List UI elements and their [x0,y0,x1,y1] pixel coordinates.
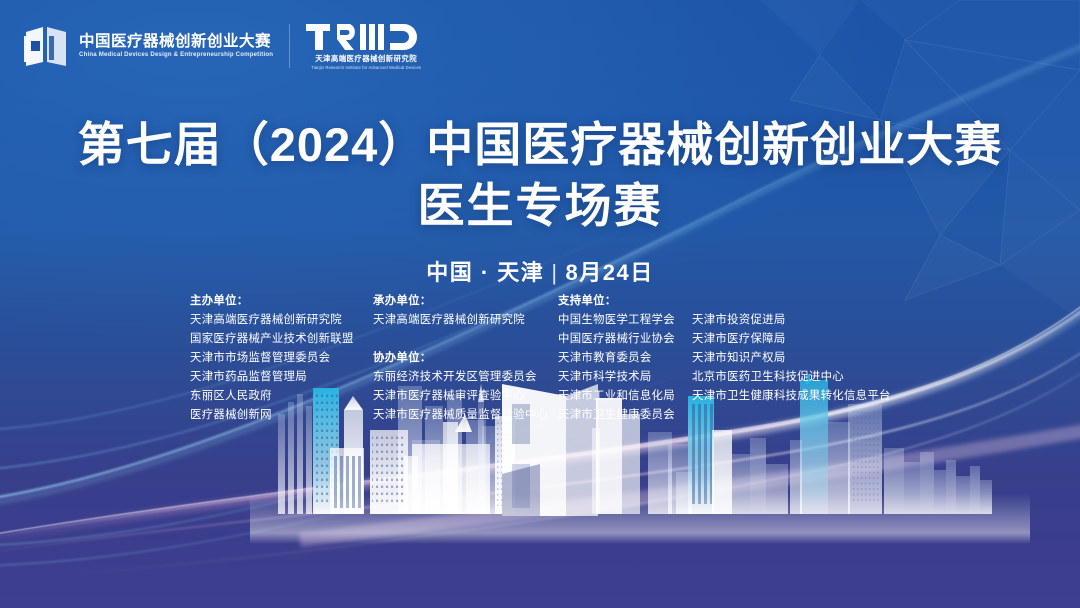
supporter-item: 天津市工业和信息化局 [558,387,675,406]
supporter-item: 北京市医药卫生科技促进中心 [692,368,891,387]
organizer-column: 承办单位： 天津高端医疗器械创新研究院 协办单位： 东丽经济技术开发区管理委员会… [373,292,548,425]
host-item: 国家医疗器械产业技术创新联盟 [190,330,354,349]
host-heading: 主办单位： [190,292,354,311]
supporter-item: 天津市卫生健康科技成果转化信息平台 [692,387,891,406]
host-item: 天津市药品监督管理局 [190,368,354,387]
coorganizer-item: 东丽经济技术开发区管理委员会 [373,368,548,387]
dateline-separator: | [551,260,558,286]
supporter-item: 天津市教育委员会 [558,349,675,368]
poster-title-line2: 医生专场赛 [0,177,1080,234]
supporter-item: 天津市卫生健康委员会 [558,406,675,425]
logo-bar: 中国医疗器械创新创业大赛 China Medical Devices Desig… [22,22,426,70]
supporter-item: 天津市知识产权局 [692,349,891,368]
supporter-item: 天津市投资促进局 [692,311,891,330]
poster-title-line1: 第七届（2024）中国医疗器械创新创业大赛 [0,116,1080,173]
competition-logo-en: China Medical Devices Design & Entrepren… [79,52,273,58]
organizations-block: 主办单位： 天津高端医疗器械创新研究院 国家医疗器械产业技术创新联盟 天津市市场… [0,292,1080,422]
supporter-item: 中国生物医学工程学会 [558,311,675,330]
host-column: 主办单位： 天津高端医疗器械创新研究院 国家医疗器械产业技术创新联盟 天津市市场… [190,292,354,425]
supporter-item: 天津市科学技术局 [558,368,675,387]
poster-canvas: 中国医疗器械创新创业大赛 China Medical Devices Desig… [0,0,1080,608]
coorganizer-item: 天津市医疗器械质量监督检验中心 [373,406,548,425]
location-date-line: 中国 · 天津|8月24日 [0,255,1080,287]
column-spacer [373,330,548,349]
host-item: 天津高端医疗器械创新研究院 [190,311,354,330]
competition-logo-cn: 中国医疗器械创新创业大赛 [79,34,273,50]
host-item: 东丽区人民政府 [190,387,354,406]
organizer-item: 天津高端医疗器械创新研究院 [373,311,548,330]
title-block: 第七届（2024）中国医疗器械创新创业大赛 医生专场赛 [0,116,1080,235]
open-door-icon [22,22,70,70]
host-item: 医疗器械创新网 [190,406,354,425]
organizer-heading: 承办单位： [373,292,548,311]
trimd-logo: 天津高端医疗器械创新研究院 Tianjin Research Institute… [306,22,426,70]
location-text: 中国 · 天津 [426,260,544,285]
supporter-item: 中国医疗器械行业协会 [558,330,675,349]
coorganizer-heading: 协办单位： [373,349,548,368]
supporter-item: 天津市医疗保障局 [692,330,891,349]
supporters-column: 支持单位： 中国生物医学工程学会 中国医疗器械行业协会 天津市教育委员会 天津市… [558,292,675,425]
trimd-logo-en: Tianjin Research Institute for Advanced … [311,66,421,70]
supporters-column-right: 天津市投资促进局 天津市医疗保障局 天津市知识产权局 北京市医药卫生科技促进中心… [692,311,891,406]
trimd-wordmark-icon [306,22,426,52]
supporters-heading: 支持单位： [558,292,675,311]
trimd-logo-cn: 天津高端医疗器械创新研究院 [315,55,417,62]
host-item: 天津市市场监督管理委员会 [190,349,354,368]
logo-divider [289,24,290,68]
coorganizer-item: 天津市医疗器械审评查验中心 [373,387,548,406]
date-text: 8月24日 [566,260,654,285]
competition-logo: 中国医疗器械创新创业大赛 China Medical Devices Desig… [22,22,273,70]
